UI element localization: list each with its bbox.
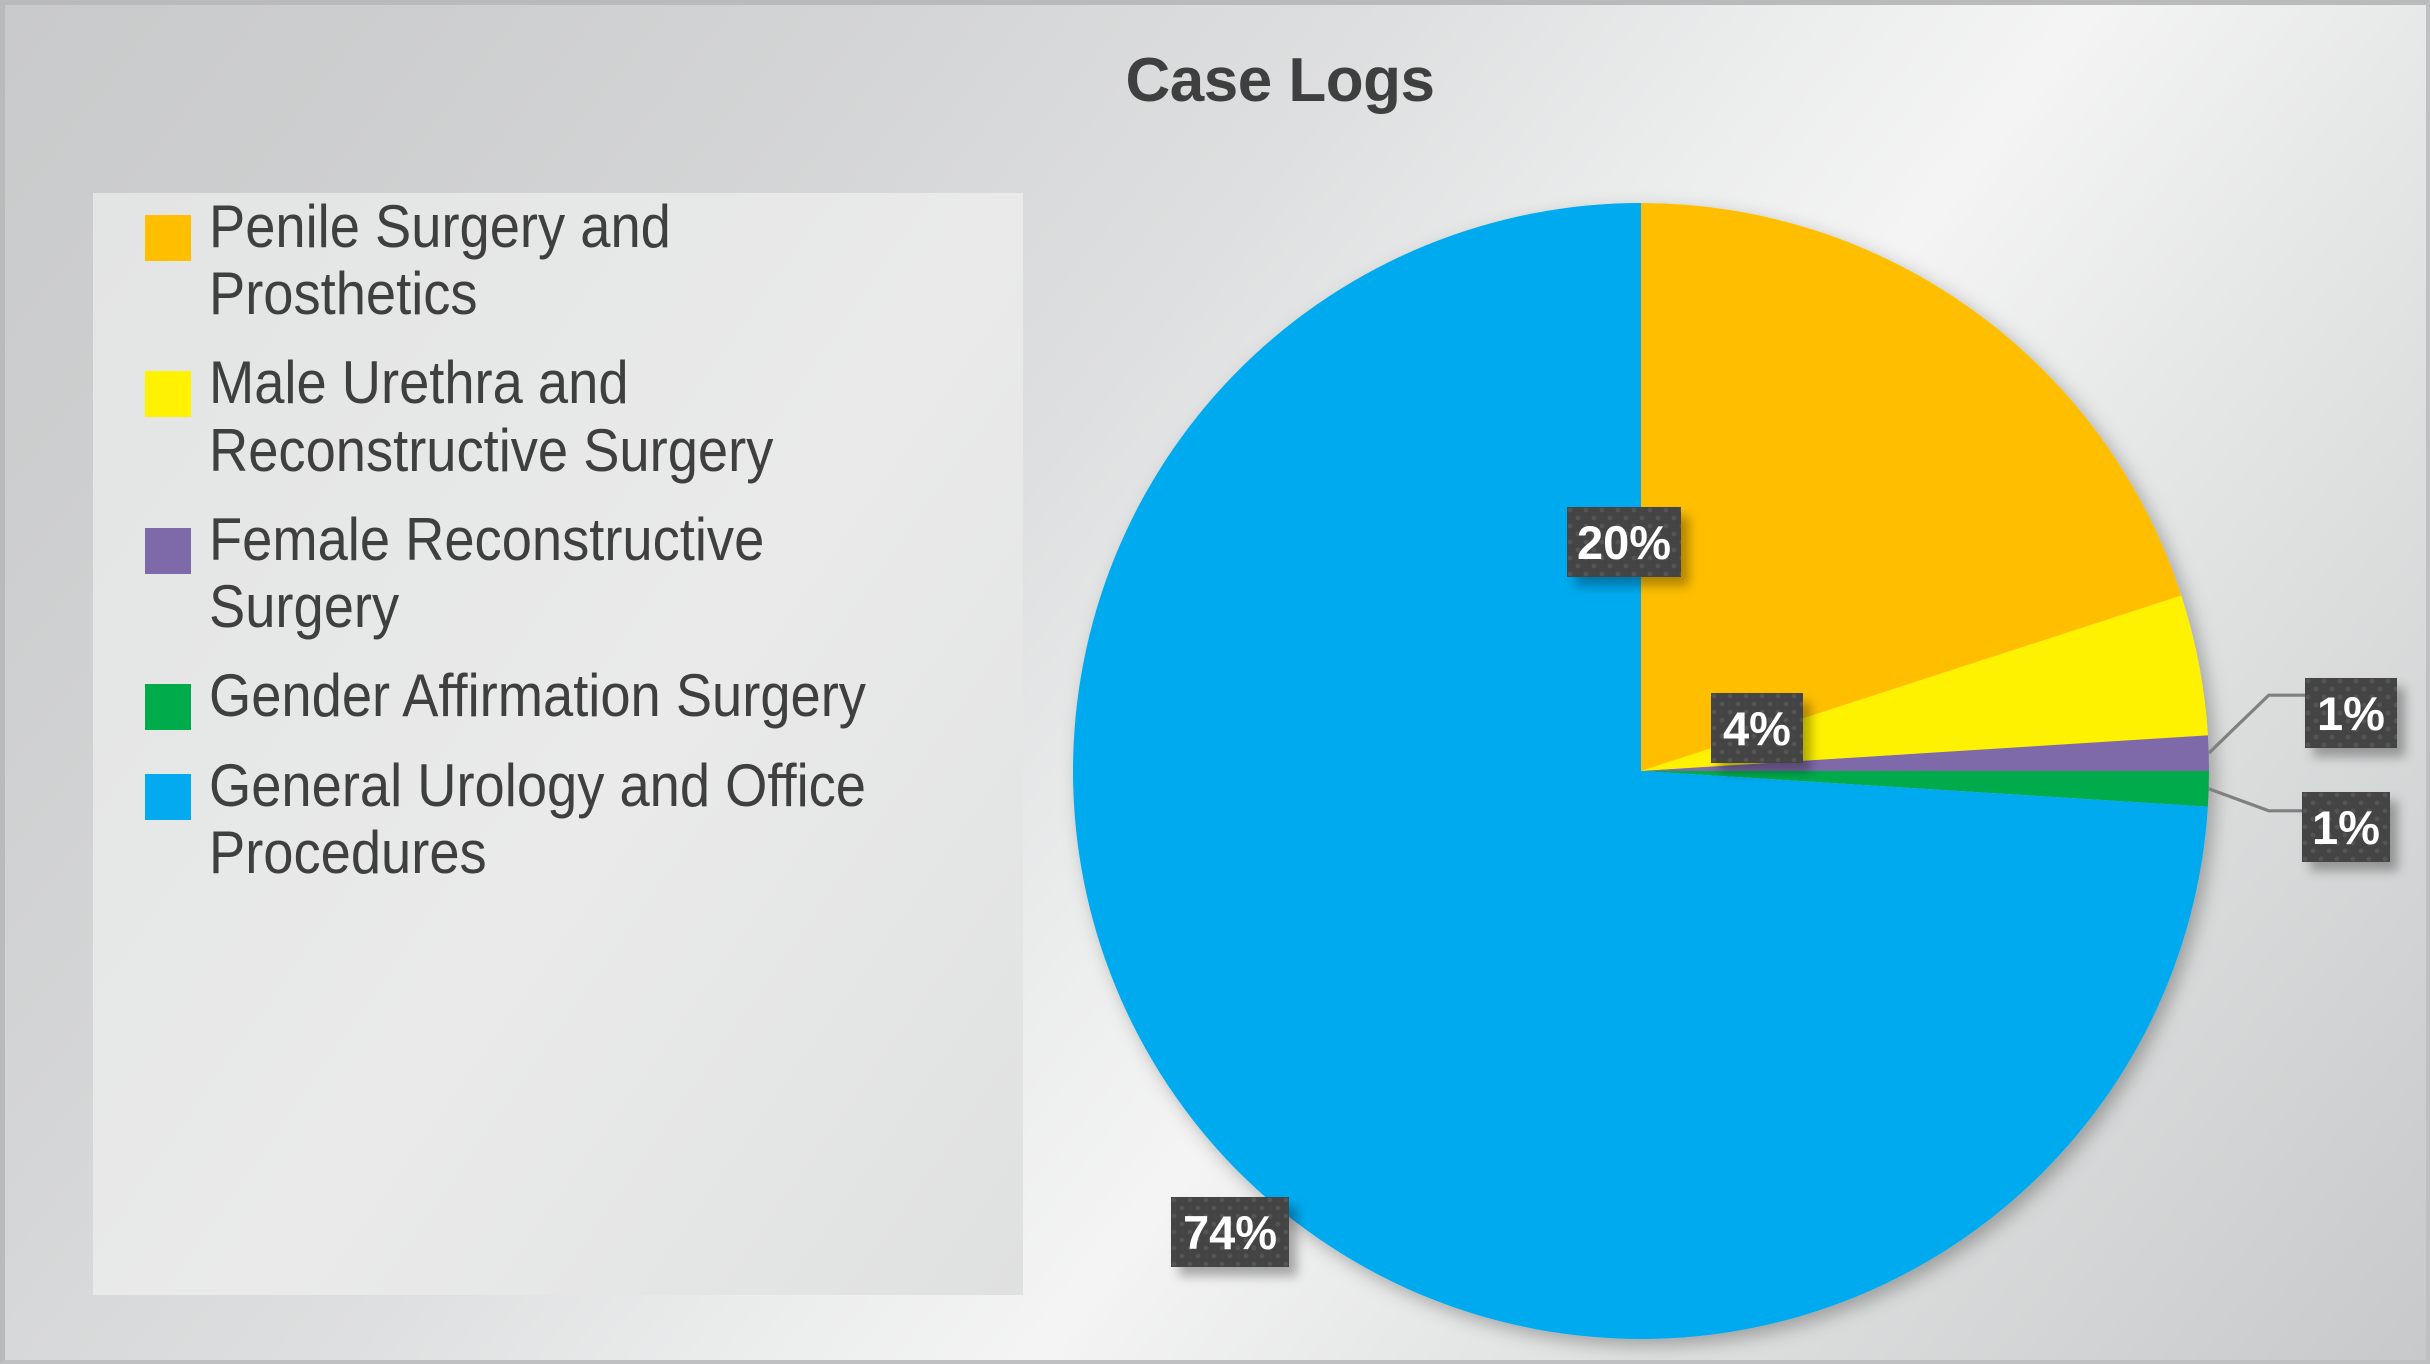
- slide-canvas: Case Logs Penile Surgery and Prosthetics…: [0, 0, 2430, 1364]
- legend-item-label: Gender Affirmation Surgery: [209, 662, 866, 729]
- legend-item-general-urology[interactable]: General Urology and Office Procedures: [93, 752, 1023, 886]
- pie-chart: 20% 4% 1% 1% 74%: [1071, 197, 2207, 1333]
- pie-slices-group: [1073, 203, 2209, 1339]
- legend-swatch-penile-surgery-icon: [145, 215, 191, 261]
- legend-item-female-reconstructive[interactable]: Female Reconstructive Surgery: [93, 506, 1023, 640]
- legend-swatch-female-reconstructive-icon: [145, 528, 191, 574]
- legend-swatch-general-urology-icon: [145, 774, 191, 820]
- data-label-general-urology: 74%: [1171, 1197, 1289, 1267]
- legend-swatch-gender-affirmation-icon: [145, 684, 191, 730]
- legend-item-gender-affirmation[interactable]: Gender Affirmation Surgery: [93, 662, 1023, 730]
- legend-item-label: Female Reconstructive Surgery: [209, 506, 915, 640]
- data-label-male-urethra: 4%: [1711, 693, 1803, 763]
- data-label-penile-surgery: 20%: [1567, 507, 1681, 577]
- pie-chart-svg: [1071, 197, 2207, 1333]
- data-label-female-reconstructive: 1%: [2305, 678, 2397, 748]
- legend-item-penile-surgery[interactable]: Penile Surgery and Prosthetics: [93, 193, 1023, 327]
- page-title: Case Logs: [5, 45, 2430, 116]
- legend-item-label: Penile Surgery and Prosthetics: [209, 193, 915, 327]
- legend-item-label: General Urology and Office Procedures: [209, 752, 915, 886]
- legend-swatch-male-urethra-icon: [145, 371, 191, 417]
- data-label-gender-affirmation: 1%: [2302, 792, 2390, 862]
- chart-legend: Penile Surgery and Prosthetics Male Uret…: [93, 193, 1023, 1295]
- legend-item-male-urethra[interactable]: Male Urethra and Reconstructive Surgery: [93, 349, 1023, 483]
- legend-item-label: Male Urethra and Reconstructive Surgery: [209, 349, 915, 483]
